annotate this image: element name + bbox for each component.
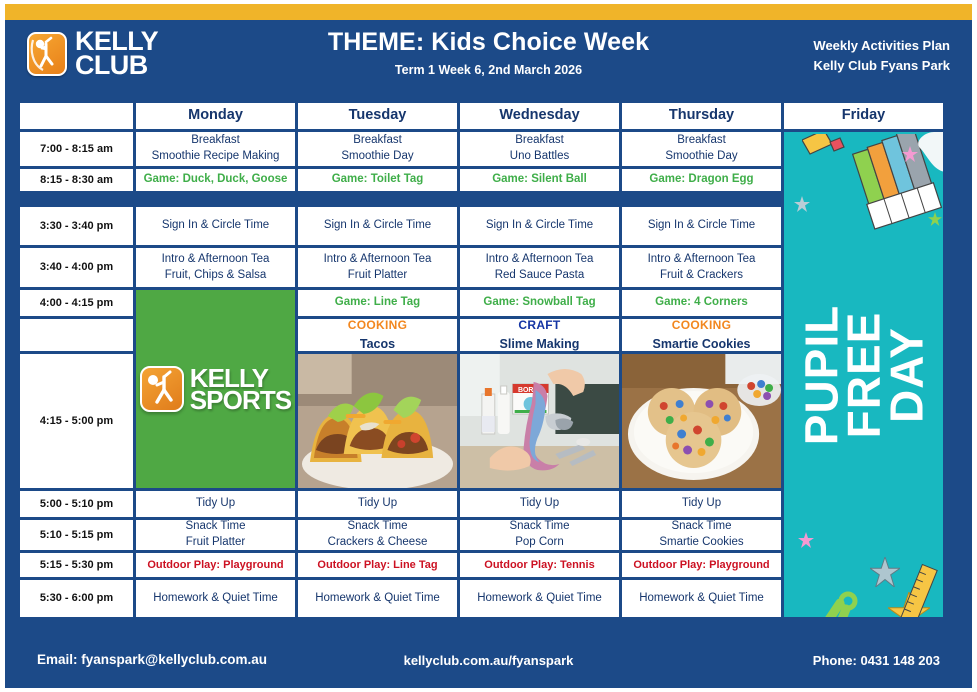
cell-line-primary: Tidy Up [196,496,235,512]
poster-page: KELLY CLUB THEME: Kids Choice Week Term … [0,0,977,692]
cell-monday: Outdoor Play: Playground [136,553,295,577]
activity-type-label: COOKING [348,319,407,334]
cell-line-secondary: Uno Battles [510,149,569,165]
cell-line-primary: Outdoor Play: Line Tag [317,558,437,573]
cell-line-secondary: Crackers & Cheese [328,535,428,550]
day-header-tuesday: Tuesday [298,103,457,129]
cell-line-primary: Sign In & Circle Time [648,218,755,234]
cell-line-primary: Game: Dragon Egg [649,172,753,188]
cell-line-primary: Breakfast [515,133,564,149]
cell-wednesday: BreakfastUno Battles [460,132,619,166]
cell-thursday: Sign In & Circle Time [622,207,781,245]
cell-monday: BreakfastSmoothie Recipe Making [136,132,295,166]
cell-line-primary: Sign In & Circle Time [324,218,431,234]
time-slot-blank [20,319,133,351]
cell-line-primary: Game: 4 Corners [655,295,748,311]
cell-wednesday: Sign In & Circle Time [460,207,619,245]
cell-line-secondary: Fruit Platter [348,268,407,284]
cell-thursday: Homework & Quiet Time [622,580,781,617]
activity-name-label: Smartie Cookies [653,336,751,351]
tacos-photo [298,354,457,488]
weekly-plan-label: Weekly Activities Plan [813,36,950,56]
cell-line-secondary: Smartie Cookies [659,535,743,550]
cell-line-primary: Homework & Quiet Time [477,591,602,607]
cell-wednesday: Game: Silent Ball [460,169,619,191]
header-right-info: Weekly Activities Plan Kelly Club Fyans … [813,36,950,75]
cell-thursday: Game: 4 Corners [622,290,781,316]
slime-making-photo: BORAX [460,354,619,488]
cell-line-secondary: Smoothie Day [665,149,737,165]
cell-line-primary: Sign In & Circle Time [162,218,269,234]
cell-monday: Tidy Up [136,491,295,517]
kelly-sports-badge-icon [140,366,184,412]
footer-phone: Phone: 0431 148 203 [813,653,940,668]
kelly-sports-feature-block: KELLYSPORTS [136,290,295,488]
cell-line-primary: Homework & Quiet Time [315,591,440,607]
activity-name-label: Tacos [360,336,395,351]
cell-line-primary: Tidy Up [682,496,721,512]
cell-tuesday: Game: Toilet Tag [298,169,457,191]
sports-line-2: SPORTS [190,389,292,411]
cell-tuesday: Homework & Quiet Time [298,580,457,617]
cell-line-primary: Game: Duck, Duck, Goose [144,172,288,188]
cell-line-primary: Game: Line Tag [335,295,420,311]
scissors-doodle [806,587,870,617]
day-header-thursday: Thursday [622,103,781,129]
cell-line-primary: Breakfast [191,133,240,149]
cell-tuesday: Game: Line Tag [298,290,457,316]
time-slot-label: 5:30 - 6:00 pm [20,580,133,617]
activities-grid: MondayTuesdayWednesdayThursdayFriday7:00… [5,98,972,635]
cell-line-primary: Breakfast [677,133,726,149]
day-header-friday: Friday [784,103,943,129]
cell-monday: Snack TimeFruit Platter [136,520,295,550]
cell-line-primary: Snack Time [185,520,245,535]
cell-line-primary: Outdoor Play: Tennis [484,558,594,573]
activity-type-label: CRAFT [518,319,560,334]
cell-line-primary: Homework & Quiet Time [153,591,278,607]
cell-line-primary: Intro & Afternoon Tea [648,252,756,268]
cell-tuesday: Tidy Up [298,491,457,517]
cell-thursday: Snack TimeSmartie Cookies [622,520,781,550]
cell-line-secondary: Red Sauce Pasta [495,268,585,284]
cell-line-secondary: Fruit & Crackers [660,268,743,284]
time-slot-label: 8:15 - 8:30 am [20,169,133,191]
pfd-line-3: DAY [880,327,932,423]
cell-line-primary: Intro & Afternoon Tea [486,252,594,268]
time-slot-label: 4:15 - 5:00 pm [20,354,133,488]
cell-line-secondary: Fruit, Chips & Salsa [165,268,267,284]
day-header-monday: Monday [136,103,295,129]
cell-line-primary: Game: Snowball Tag [483,295,595,311]
activity-name-label: Slime Making [500,336,580,351]
kelly-sports-logo: KELLYSPORTS [140,366,292,412]
cell-thursday: Tidy Up [622,491,781,517]
cell-line-primary: Intro & Afternoon Tea [324,252,432,268]
time-slot-label: 5:00 - 5:10 pm [20,491,133,517]
cell-line-secondary: Fruit Platter [186,535,245,550]
cell-line-primary: Outdoor Play: Playground [633,558,769,573]
featured-activity-cell: COOKINGSmartie Cookies [622,319,781,351]
cell-wednesday: Tidy Up [460,491,619,517]
cell-line-primary: Outdoor Play: Playground [147,558,283,573]
day-header-wednesday: Wednesday [460,103,619,129]
cell-thursday: Intro & Afternoon TeaFruit & Crackers [622,248,781,287]
cell-tuesday: Intro & Afternoon TeaFruit Platter [298,248,457,287]
time-slot-label: 5:10 - 5:15 pm [20,520,133,550]
smartie-cookies-photo [622,354,781,488]
featured-activity-cell: COOKINGTacos [298,319,457,351]
cell-line-secondary: Pop Corn [515,535,564,550]
top-yellow-band [5,4,972,20]
star-doodle-grey-left [794,196,810,212]
cell-wednesday: Game: Snowball Tag [460,290,619,316]
cell-line-primary: Snack Time [347,520,407,535]
cell-thursday: Game: Dragon Egg [622,169,781,191]
star-doodle-pink-bottom [798,532,814,548]
cell-line-primary: Intro & Afternoon Tea [162,252,270,268]
cell-monday: Intro & Afternoon TeaFruit, Chips & Sals… [136,248,295,287]
poster-footer: Email: fyanspark@kellyclub.com.au kellyc… [5,635,972,688]
pupil-free-day-banner: PUPILFREEDAY [800,304,927,444]
cell-tuesday: Outdoor Play: Line Tag [298,553,457,577]
featured-activity-cell: CRAFTSlime Making [460,319,619,351]
cell-line-secondary: Smoothie Day [341,149,413,165]
cell-line-secondary: Smoothie Recipe Making [152,149,280,165]
cell-wednesday: Outdoor Play: Tennis [460,553,619,577]
friday-pupil-free-day-panel: PUPILFREEDAY [784,132,943,617]
cell-line-primary: Tidy Up [358,496,397,512]
cell-tuesday: Sign In & Circle Time [298,207,457,245]
cell-line-primary: Snack Time [671,520,731,535]
cell-wednesday: Intro & Afternoon TeaRed Sauce Pasta [460,248,619,287]
cell-tuesday: BreakfastSmoothie Day [298,132,457,166]
cell-line-primary: Tidy Up [520,496,559,512]
time-slot-label: 3:40 - 4:00 pm [20,248,133,287]
cell-monday: Homework & Quiet Time [136,580,295,617]
poster-header: KELLY CLUB THEME: Kids Choice Week Term … [5,20,972,98]
grid-corner-cell [20,103,133,129]
cell-line-primary: Breakfast [353,133,402,149]
poster-sheet: KELLY CLUB THEME: Kids Choice Week Term … [5,4,972,688]
cell-monday: Sign In & Circle Time [136,207,295,245]
cell-line-primary: Sign In & Circle Time [486,218,593,234]
cell-thursday: Outdoor Play: Playground [622,553,781,577]
time-slot-label: 7:00 - 8:15 am [20,132,133,166]
cell-tuesday: Snack TimeCrackers & Cheese [298,520,457,550]
cell-wednesday: Homework & Quiet Time [460,580,619,617]
time-slot-label: 5:15 - 5:30 pm [20,553,133,577]
cell-thursday: BreakfastSmoothie Day [622,132,781,166]
kelly-sports-wordmark: KELLYSPORTS [190,367,292,411]
cell-line-primary: Game: Toilet Tag [332,172,424,188]
ruler-doodle [894,562,943,617]
cell-line-primary: Game: Silent Ball [492,172,587,188]
time-slot-label: 3:30 - 3:40 pm [20,207,133,245]
activity-type-label: COOKING [672,319,731,334]
white-cloud-shape [894,132,943,178]
cell-wednesday: Snack TimePop Corn [460,520,619,550]
cell-monday: Game: Duck, Duck, Goose [136,169,295,191]
star-doodle-green-right [928,212,942,226]
cell-line-primary: Homework & Quiet Time [639,591,764,607]
time-slot-label: 4:00 - 4:15 pm [20,290,133,316]
cell-line-primary: Snack Time [509,520,569,535]
centre-name-label: Kelly Club Fyans Park [813,56,950,76]
